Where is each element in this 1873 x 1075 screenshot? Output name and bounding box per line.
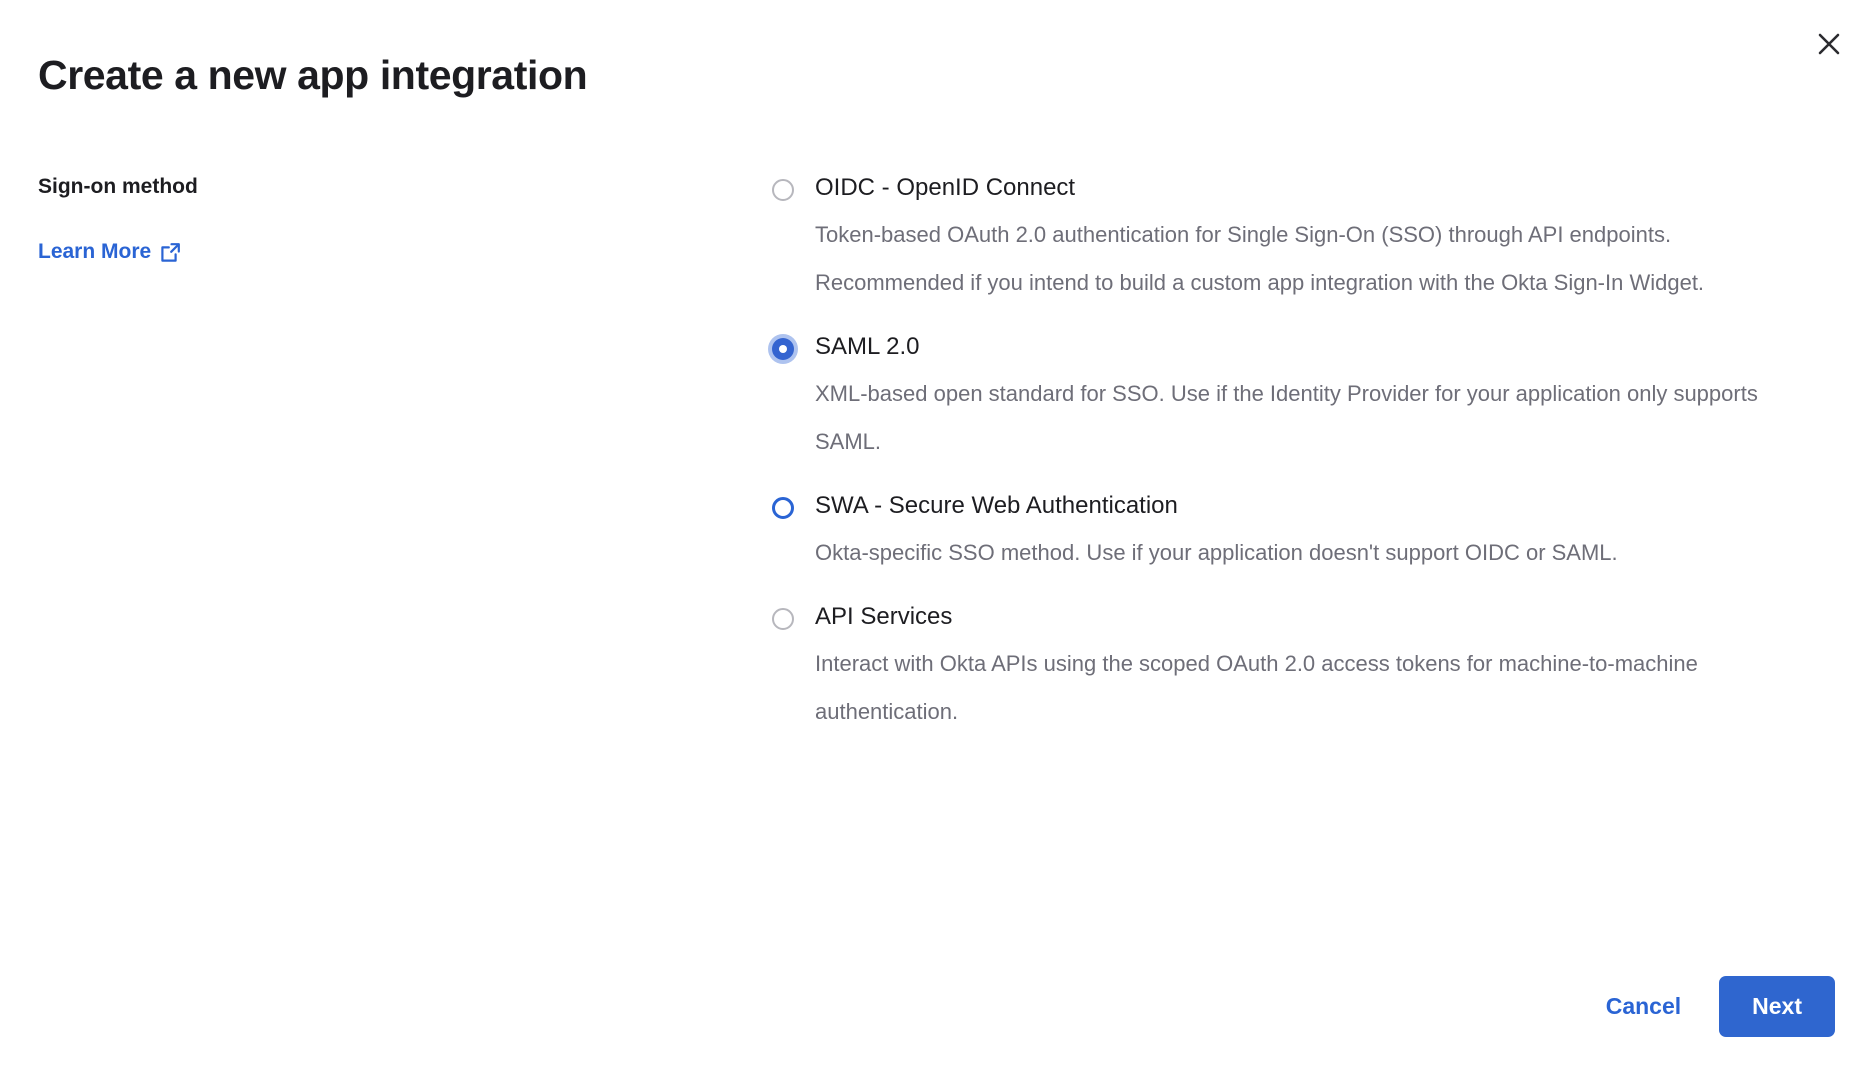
option-api-services[interactable]: API Services Interact with Okta APIs usi… bbox=[770, 601, 1825, 736]
learn-more-link[interactable]: Learn More bbox=[38, 238, 181, 266]
option-title: SAML 2.0 bbox=[815, 331, 1825, 363]
radio-oidc-openid-connect[interactable] bbox=[770, 177, 796, 203]
radio-swa-secure-web-authentication[interactable] bbox=[770, 495, 796, 521]
option-title: OIDC - OpenID Connect bbox=[815, 172, 1825, 204]
option-description: XML-based open standard for SSO. Use if … bbox=[815, 370, 1825, 466]
radio-circle-icon bbox=[772, 179, 794, 201]
option-description: Interact with Okta APIs using the scoped… bbox=[815, 640, 1825, 736]
option-title: SWA - Secure Web Authentication bbox=[815, 490, 1825, 522]
sign-on-method-section: Sign-on method Learn More bbox=[38, 172, 558, 266]
radio-circle-icon bbox=[772, 608, 794, 630]
close-icon bbox=[1815, 30, 1843, 58]
option-description: Okta-specific SSO method. Use if your ap… bbox=[815, 529, 1825, 577]
radio-circle-icon bbox=[772, 497, 794, 519]
option-description: Token-based OAuth 2.0 authentication for… bbox=[815, 211, 1825, 307]
external-link-icon bbox=[160, 242, 181, 263]
option-saml-2-0[interactable]: SAML 2.0 XML-based open standard for SSO… bbox=[770, 331, 1825, 466]
radio-circle-icon bbox=[772, 338, 794, 360]
close-button[interactable] bbox=[1807, 22, 1851, 66]
option-oidc-openid-connect[interactable]: OIDC - OpenID Connect Token-based OAuth … bbox=[770, 172, 1825, 307]
next-button[interactable]: Next bbox=[1719, 976, 1835, 1037]
sign-on-method-label: Sign-on method bbox=[38, 172, 558, 202]
cancel-button[interactable]: Cancel bbox=[1602, 983, 1685, 1030]
learn-more-label: Learn More bbox=[38, 238, 151, 266]
sign-on-method-radio-group[interactable]: OIDC - OpenID Connect Token-based OAuth … bbox=[770, 172, 1825, 736]
option-title: API Services bbox=[815, 601, 1825, 633]
radio-api-services[interactable] bbox=[770, 606, 796, 632]
dialog-footer: Cancel Next bbox=[1602, 976, 1835, 1037]
radio-saml-2-0[interactable] bbox=[770, 336, 796, 362]
option-swa-secure-web-authentication[interactable]: SWA - Secure Web Authentication Okta-spe… bbox=[770, 490, 1825, 577]
page-title: Create a new app integration bbox=[38, 50, 587, 100]
